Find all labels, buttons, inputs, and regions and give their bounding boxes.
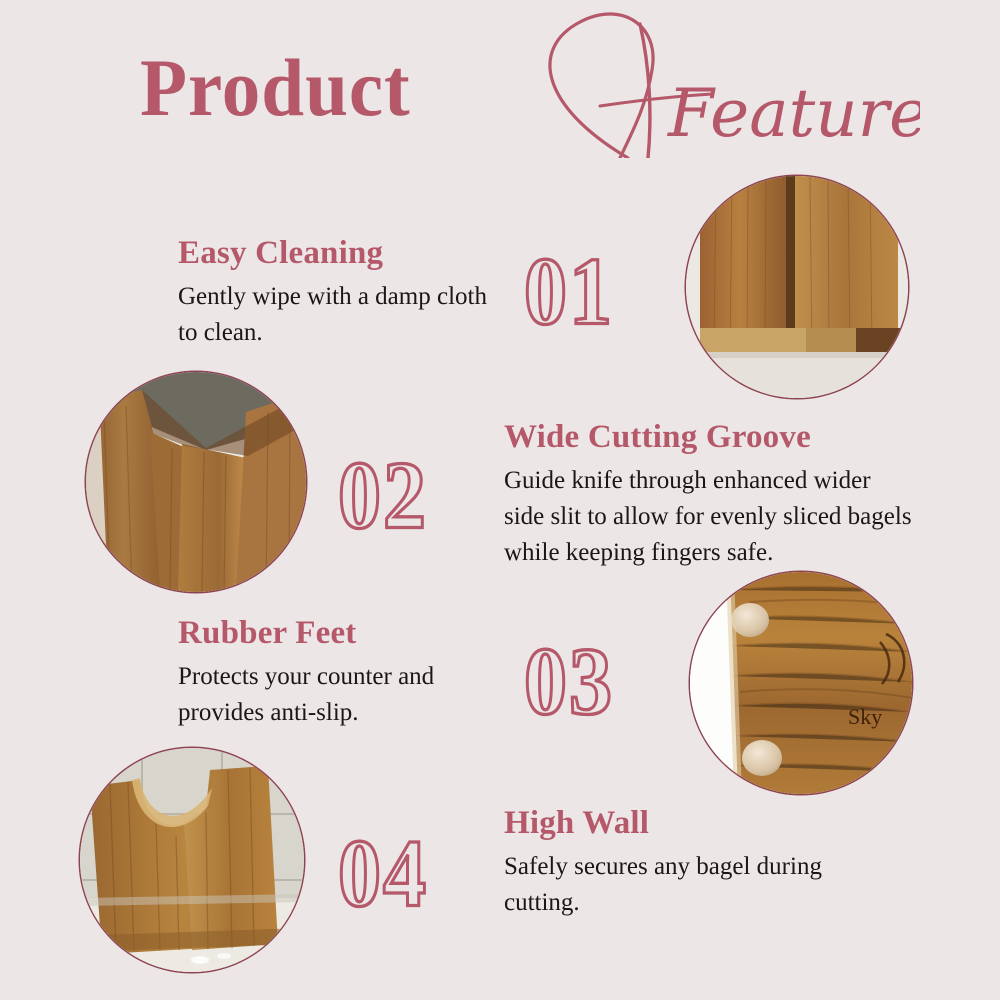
feature-title-03: Rubber Feet [178,614,508,652]
photo-rubber-feet: Sky [690,572,912,794]
page-title: Product Features: [0,0,1000,165]
product-features-infographic: Product Features: Easy Cleaning Gently w… [0,0,1000,1000]
feature-text-03: Rubber Feet Protects your counter and pr… [178,614,508,731]
feature-number-02: 02 [338,447,428,543]
feature-number-03: 03 [524,633,614,729]
feature-title-01: Easy Cleaning [178,234,498,272]
feature-description-04: Safely secures any bagel during cutting. [504,849,864,921]
title-word-product: Product [140,42,411,134]
brand-engraving: Sky [848,704,882,729]
script-letters: Features: [667,75,920,152]
photo-easy-cleaning [686,176,908,398]
title-word-features: Features: [500,8,920,158]
feature-title-04: High Wall [504,804,864,842]
feature-number-01: 01 [524,243,614,339]
photo-high-wall [80,748,304,972]
feature-number-04: 04 [338,825,428,921]
photo-wide-cutting-groove [86,372,306,592]
feature-description-02: Guide knife through enhanced wider side … [504,463,914,571]
feature-description-01: Gently wipe with a damp cloth to clean. [178,279,498,351]
feature-text-02: Wide Cutting Groove Guide knife through … [504,418,914,571]
feature-title-02: Wide Cutting Groove [504,418,914,456]
feature-description-03: Protects your counter and provides anti-… [178,659,508,731]
feature-text-01: Easy Cleaning Gently wipe with a damp cl… [178,234,498,351]
feature-text-04: High Wall Safely secures any bagel durin… [504,804,864,921]
